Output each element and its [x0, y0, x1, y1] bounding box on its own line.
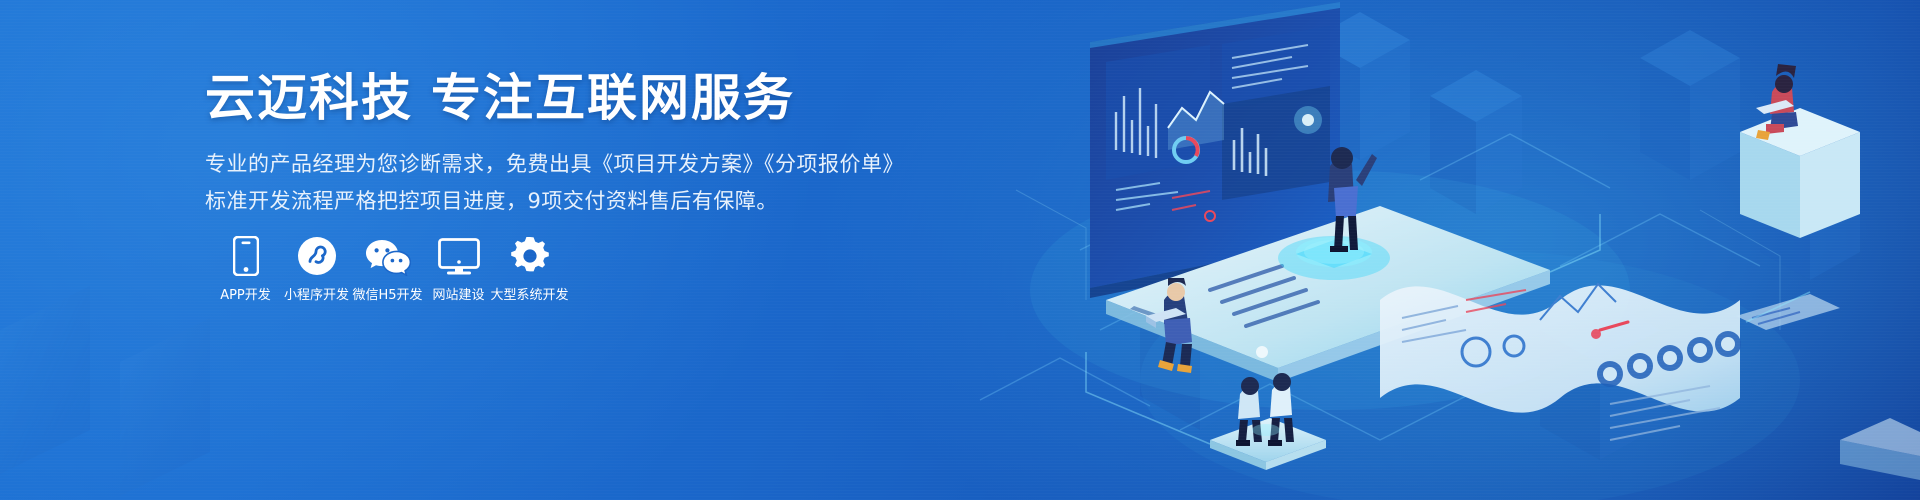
page-title: 云迈科技专注互联网服务: [205, 73, 795, 123]
hero-subtitle: 专业的产品经理为您诊断需求，免费出具《项目开发方案》《分项报价单》 标准开发流程…: [205, 146, 904, 220]
service-label-system: 大型系统开发: [491, 289, 569, 302]
data-ribbon: [1380, 284, 1741, 440]
dashboard-screen: [1090, 2, 1340, 298]
subtitle-line-1: 专业的产品经理为您诊断需求，免费出具《项目开发方案》《分项报价单》: [205, 146, 904, 183]
person-sitting-block: [1740, 64, 1860, 238]
person-presenter: [1304, 147, 1377, 264]
service-icon-row: APP开发 小程序开发: [210, 232, 565, 302]
service-label-app: APP开发: [220, 289, 271, 302]
right-edge-block: [1840, 418, 1920, 480]
gear-icon: [510, 232, 550, 276]
wechat-icon: [365, 232, 411, 276]
phone-platform: [1106, 206, 1550, 382]
monitor-icon: [438, 232, 480, 276]
service-item-website[interactable]: 网站建设: [423, 232, 494, 302]
mobile-phone-icon: [233, 232, 259, 276]
person-laptop: [1146, 278, 1192, 373]
subtitle-line-2: 标准开发流程严格把控项目进度，9项交付资料售后有保障。: [205, 183, 904, 220]
service-label-website: 网站建设: [432, 289, 484, 302]
isometric-tech-illustration: [910, 0, 1920, 500]
hero-content: 云迈科技专注互联网服务 专业的产品经理为您诊断需求，免费出具《项目开发方案》《分…: [205, 0, 965, 500]
service-item-wechat[interactable]: 微信H5开发: [352, 232, 423, 302]
page-title-brand: 云迈科技: [205, 69, 413, 127]
service-item-mini-program[interactable]: 小程序开发: [281, 232, 352, 302]
floating-ui-card: [1736, 294, 1840, 330]
page-title-tagline: 专注互联网服务: [431, 69, 795, 127]
mini-program-icon: [297, 232, 337, 276]
service-item-system[interactable]: 大型系统开发: [494, 232, 565, 302]
service-label-mini-program: 小程序开发: [284, 289, 349, 302]
hero-banner: 云迈科技专注互联网服务 专业的产品经理为您诊断需求，免费出具《项目开发方案》《分…: [0, 0, 1920, 500]
service-label-wechat-h5: 微信H5开发: [352, 289, 422, 302]
service-item-app[interactable]: APP开发: [210, 232, 281, 302]
person-pair: [1210, 373, 1326, 470]
